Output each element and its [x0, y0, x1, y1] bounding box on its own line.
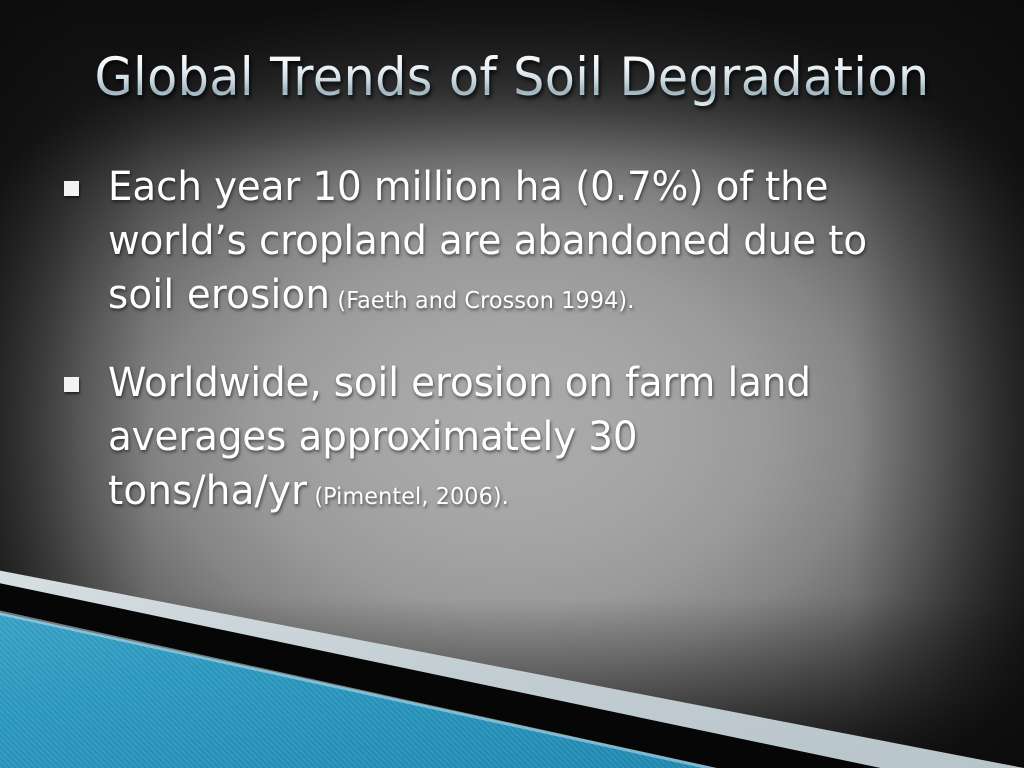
bullet-1-emphasis: soil erosion	[108, 272, 330, 318]
bullet-text-1: Each year 10 million ha (0.7%) of the wo…	[108, 160, 938, 322]
bullet-2-citation	[307, 484, 314, 510]
bullet-2-lead: Worldwide, soil erosion on farm land ave…	[108, 360, 811, 460]
square-bullet-icon	[64, 377, 79, 392]
bullet-1-citation-text: (Faeth and Crosson 1994).	[337, 288, 634, 314]
list-item: Each year 10 million ha (0.7%) of the wo…	[64, 160, 964, 322]
presentation-slide: Global Trends of Soil Degradation Each y…	[0, 0, 1024, 768]
bullet-text-2: Worldwide, soil erosion on farm land ave…	[108, 356, 938, 518]
bullet-2-citation-text: (Pimentel, 2006).	[314, 484, 509, 510]
slide-body: Each year 10 million ha (0.7%) of the wo…	[64, 160, 964, 552]
bullet-1-lead: Each year 10 million ha (0.7%) of the wo…	[108, 164, 867, 264]
bullet-1-citation	[330, 288, 337, 314]
slide-title: Global Trends of Soil Degradation	[36, 50, 988, 106]
list-item: Worldwide, soil erosion on farm land ave…	[64, 356, 964, 518]
bullet-2-emphasis: tons/ha/yr	[108, 468, 307, 514]
square-bullet-icon	[64, 181, 79, 196]
